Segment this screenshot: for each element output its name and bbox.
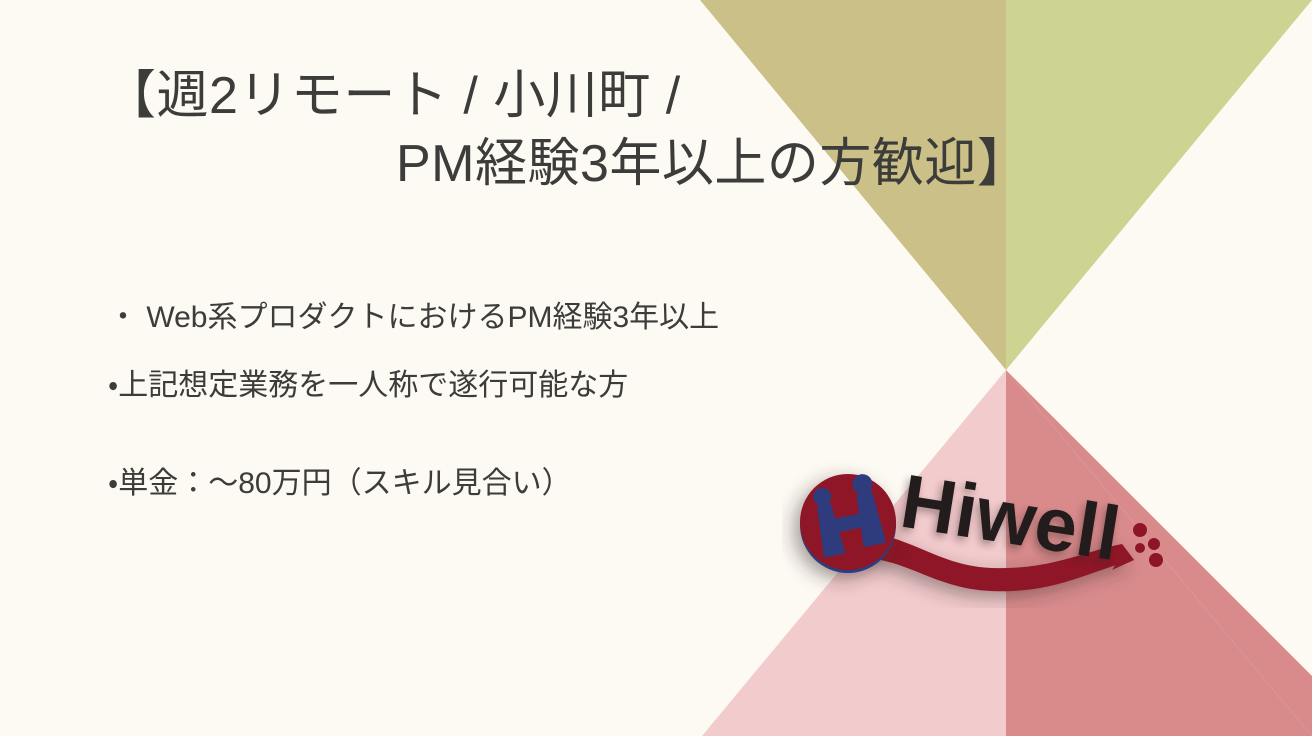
list-item: ・ Web系プロダクトにおけるPM経験3年以上 bbox=[108, 298, 868, 338]
slide-canvas: 【週2リモート / 小川町 / PM経験3年以上の方歓迎】 ・ Web系プロダク… bbox=[0, 0, 1312, 736]
hiwell-logo: Hiwell bbox=[782, 448, 1182, 608]
list-item: ・上記想定業務を一人称で遂行可能な方 bbox=[108, 366, 868, 406]
list-item: ・単金：〜80万円（スキル見合い） bbox=[108, 464, 868, 504]
title-line-1: 【週2リモート / 小川町 / bbox=[104, 62, 1064, 130]
swoosh-dots-icon bbox=[1133, 523, 1163, 567]
title-line-2: PM経験3年以上の方歓迎】 bbox=[104, 130, 1064, 198]
page-title: 【週2リモート / 小川町 / PM経験3年以上の方歓迎】 bbox=[104, 62, 1064, 198]
requirements-list: ・ Web系プロダクトにおけるPM経験3年以上 ・上記想定業務を一人称で遂行可能… bbox=[108, 298, 868, 504]
